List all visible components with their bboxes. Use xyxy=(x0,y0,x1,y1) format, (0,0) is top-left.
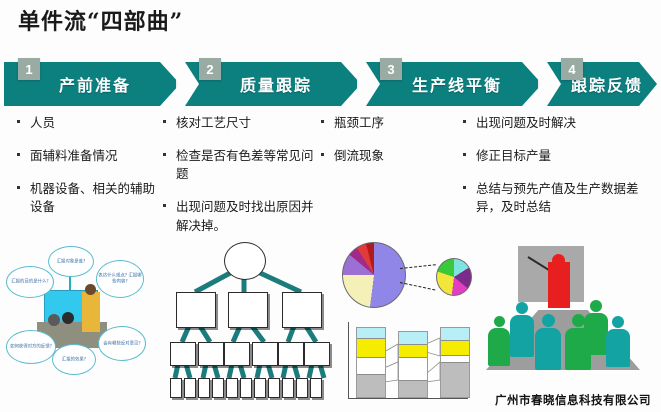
tree-node-level4 xyxy=(240,378,252,398)
bullet-item: 机器设备、相关的辅助设备 xyxy=(14,180,164,216)
speech-bubble-text: 汇报的目的是什么? xyxy=(7,279,53,285)
bar-segment-top xyxy=(441,328,469,341)
stacked-bar xyxy=(398,331,428,398)
audience-body xyxy=(488,328,510,366)
tree-node-level3 xyxy=(278,342,304,366)
stacked-bar xyxy=(356,327,386,398)
process-step-3-label: 生产线平衡 xyxy=(402,72,502,96)
bullet-columns: 人员 面辅料准备情况 机器设备、相关的辅助设备 核对工艺尺寸 检查是否有色差等常… xyxy=(0,114,661,244)
bullet-item: 出现问题及时解决 xyxy=(460,114,652,132)
speech-bubble-text: 汇报的效果? xyxy=(53,357,95,363)
bar-segment-white xyxy=(399,358,427,381)
callout-line xyxy=(400,282,435,290)
speech-bubble: 表达什么观点? 汇报哪些内容? xyxy=(96,260,144,298)
tree-node-level4 xyxy=(198,378,210,398)
tree-node-level4 xyxy=(170,378,182,398)
arrow-up-icon xyxy=(69,276,71,290)
speech-bubble-text: 表达什么观点? 汇报哪些内容? xyxy=(97,274,143,285)
bullet-item: 检查是否有色差等常见问题 xyxy=(160,147,315,183)
process-banner: 产前准备 1 质量跟踪 2 生产线平衡 3 跟踪反馈 4 xyxy=(0,60,661,108)
audience-body xyxy=(535,328,561,370)
page-title: 单件流“四部曲” xyxy=(18,4,183,36)
audience-head xyxy=(612,316,624,328)
process-step-1-label: 产前准备 xyxy=(49,72,131,96)
process-step-3-number: 3 xyxy=(380,58,402,80)
bullet-item: 瓶颈工序 xyxy=(318,114,458,132)
bullet-item: 人员 xyxy=(14,114,164,132)
tree-node-level4 xyxy=(310,378,322,398)
bullet-item: 核对工艺尺寸 xyxy=(160,114,315,132)
audience-body xyxy=(510,315,534,357)
bar-segment-gray xyxy=(399,381,427,397)
speech-bubble: 汇报对象是谁? xyxy=(48,246,94,277)
pie-chart-illustration xyxy=(338,238,474,310)
presenter-figure xyxy=(82,292,100,332)
bullet-item: 面辅料准备情况 xyxy=(14,147,164,165)
tree-node-level3 xyxy=(252,342,278,366)
footer-company: 广州市春晓信息科技有限公司 xyxy=(495,392,651,408)
bar-segment-yellow xyxy=(441,341,469,356)
bar-segment-yellow xyxy=(357,339,385,358)
speech-bubble: 如何获得对方的反馈? xyxy=(6,330,56,364)
attendee-head xyxy=(48,314,60,326)
process-step-4-number: 4 xyxy=(561,58,583,80)
speech-bubble: 会有哪些反对意见? xyxy=(98,326,146,361)
bar-segment-white xyxy=(357,358,385,375)
speech-bubble-text: 会有哪些反对意见? xyxy=(99,341,145,347)
stacked-column-illustration xyxy=(340,318,476,406)
speech-bubble-text: 如何获得对方的反馈? xyxy=(7,344,55,350)
tree-node-level3 xyxy=(170,342,196,366)
audience-body xyxy=(606,329,630,367)
detail-pie-chart xyxy=(436,258,472,296)
tree-node-level3 xyxy=(224,342,250,366)
presenter-body xyxy=(548,262,570,308)
bar-segment-white xyxy=(441,356,469,363)
process-step-2-number: 2 xyxy=(199,58,221,80)
speech-bubble: 汇报的目的是什么? xyxy=(6,266,54,298)
tree-node-level4 xyxy=(268,378,280,398)
speech-bubble: 汇报的效果? xyxy=(52,344,96,375)
tree-node-level2 xyxy=(176,292,216,328)
bullet-column-3: 瓶颈工序 倒流现象 xyxy=(318,114,458,180)
org-tree-diagram xyxy=(170,242,330,392)
bar-segment-top xyxy=(399,332,427,345)
bullet-item: 修正目标产量 xyxy=(460,147,652,165)
bullet-item: 总结与预先产值及生产数据差异，及时总结 xyxy=(460,180,652,216)
tree-node-level4 xyxy=(184,378,196,398)
speech-bubble-text: 汇报对象是谁? xyxy=(49,259,93,265)
bullet-item: 出现问题及时找出原因并解决掉。 xyxy=(160,198,315,234)
callout-line xyxy=(400,264,436,269)
main-pie-chart xyxy=(342,242,406,308)
tree-node-level3 xyxy=(198,342,224,366)
stacked-bar xyxy=(440,327,470,398)
artwork-strip: 汇报的目的是什么? 汇报对象是谁? 表达什么观点? 汇报哪些内容? 如何获得对方… xyxy=(0,238,661,412)
bullet-column-4: 出现问题及时解决 修正目标产量 总结与预先产值及生产数据差异，及时总结 xyxy=(460,114,652,232)
slide-canvas: 单件流“四部曲” 产前准备 1 质量跟踪 2 生产线平衡 3 跟踪反馈 4 人员… xyxy=(0,0,661,412)
bar-segment-gray xyxy=(357,375,385,397)
tree-node-level3 xyxy=(304,342,330,366)
meeting-illustration: 汇报的目的是什么? 汇报对象是谁? 表达什么观点? 汇报哪些内容? 如何获得对方… xyxy=(4,238,156,390)
bar-segment-yellow xyxy=(399,345,427,358)
audience-head xyxy=(494,316,505,327)
tree-node-level4 xyxy=(254,378,266,398)
process-step-2-label: 质量跟踪 xyxy=(230,72,312,96)
tree-root-node xyxy=(224,242,266,280)
attendee-head xyxy=(62,312,74,324)
process-step-1-number: 1 xyxy=(18,58,40,80)
bullet-column-1: 人员 面辅料准备情况 机器设备、相关的辅助设备 xyxy=(14,114,164,232)
tree-node-level4 xyxy=(212,378,224,398)
audience-head xyxy=(590,300,602,312)
audience-head xyxy=(516,302,528,314)
audience-head xyxy=(542,314,555,327)
tree-node-level4 xyxy=(282,378,294,398)
bar-segment-gray xyxy=(441,363,469,397)
tree-node-level2 xyxy=(282,292,322,328)
tree-node-level2 xyxy=(228,292,268,328)
tree-node-level4 xyxy=(296,378,308,398)
bullet-column-2: 核对工艺尺寸 检查是否有色差等常见问题 出现问题及时找出原因并解决掉。 xyxy=(160,114,315,250)
audience-body xyxy=(584,313,608,355)
tree-node-level4 xyxy=(226,378,238,398)
classroom-illustration xyxy=(478,240,648,388)
bullet-item: 倒流现象 xyxy=(318,147,458,165)
bar-segment-top xyxy=(357,328,385,339)
